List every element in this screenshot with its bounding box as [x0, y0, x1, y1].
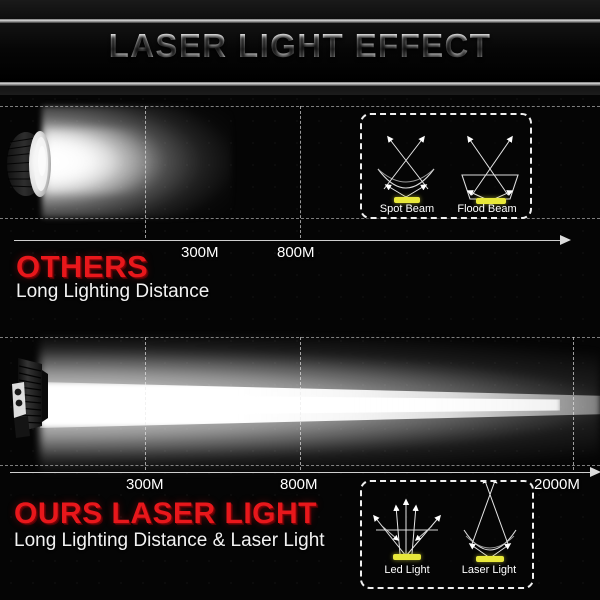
bottom-tick-line-2000m: [573, 337, 574, 470]
others-beam-core: [46, 128, 166, 194]
top-tick-line-300m: [145, 106, 146, 238]
bottom-axis-line: [10, 472, 592, 473]
bottom-tick-line-300m: [145, 337, 146, 470]
top-axis-arrowhead: [560, 235, 571, 245]
laser-light-label: Laser Light: [450, 564, 528, 576]
bottom-axis-label-2000m: 2000M: [534, 476, 580, 493]
top-tick-line-800m: [300, 106, 301, 238]
header-rule-top: [0, 19, 600, 23]
bottom-axis-label-300m: 300M: [126, 476, 164, 493]
light-source-inset-box: Led Light Laser Light: [360, 480, 534, 589]
bottom-axis-label-800m: 800M: [280, 476, 318, 493]
top-axis-label-800m: 800M: [277, 244, 315, 261]
laser-light-led-bar: [476, 556, 504, 562]
rectangular-light-bar-lamp: [8, 352, 52, 442]
laser-light-effect-infographic: LASER LIGHT EFFECT: [0, 0, 600, 600]
beam-type-inset-box: Spot Beam Flood Beam: [360, 113, 532, 219]
bottom-axis-arrowhead: [590, 467, 600, 477]
led-light-led-bar: [393, 554, 421, 560]
spot-beam-label: Spot Beam: [368, 203, 446, 215]
page-title: LASER LIGHT EFFECT: [0, 27, 600, 65]
top-axis-line: [14, 240, 562, 241]
led-light-label: Led Light: [368, 564, 446, 576]
flood-beam-label: Flood Beam: [448, 203, 526, 215]
ours-caption-white: Long Lighting Distance & Laser Light: [14, 530, 325, 552]
others-caption-white: Long Lighting Distance: [16, 281, 209, 303]
header-rule-bottom: [0, 82, 600, 86]
round-headlight-lamp: [6, 128, 60, 200]
others-caption-red: OTHERS: [16, 249, 148, 285]
bottom-tick-line-800m: [300, 337, 301, 470]
top-axis-label-300m: 300M: [181, 244, 219, 261]
ours-caption-red: OURS LASER LIGHT: [14, 497, 317, 531]
